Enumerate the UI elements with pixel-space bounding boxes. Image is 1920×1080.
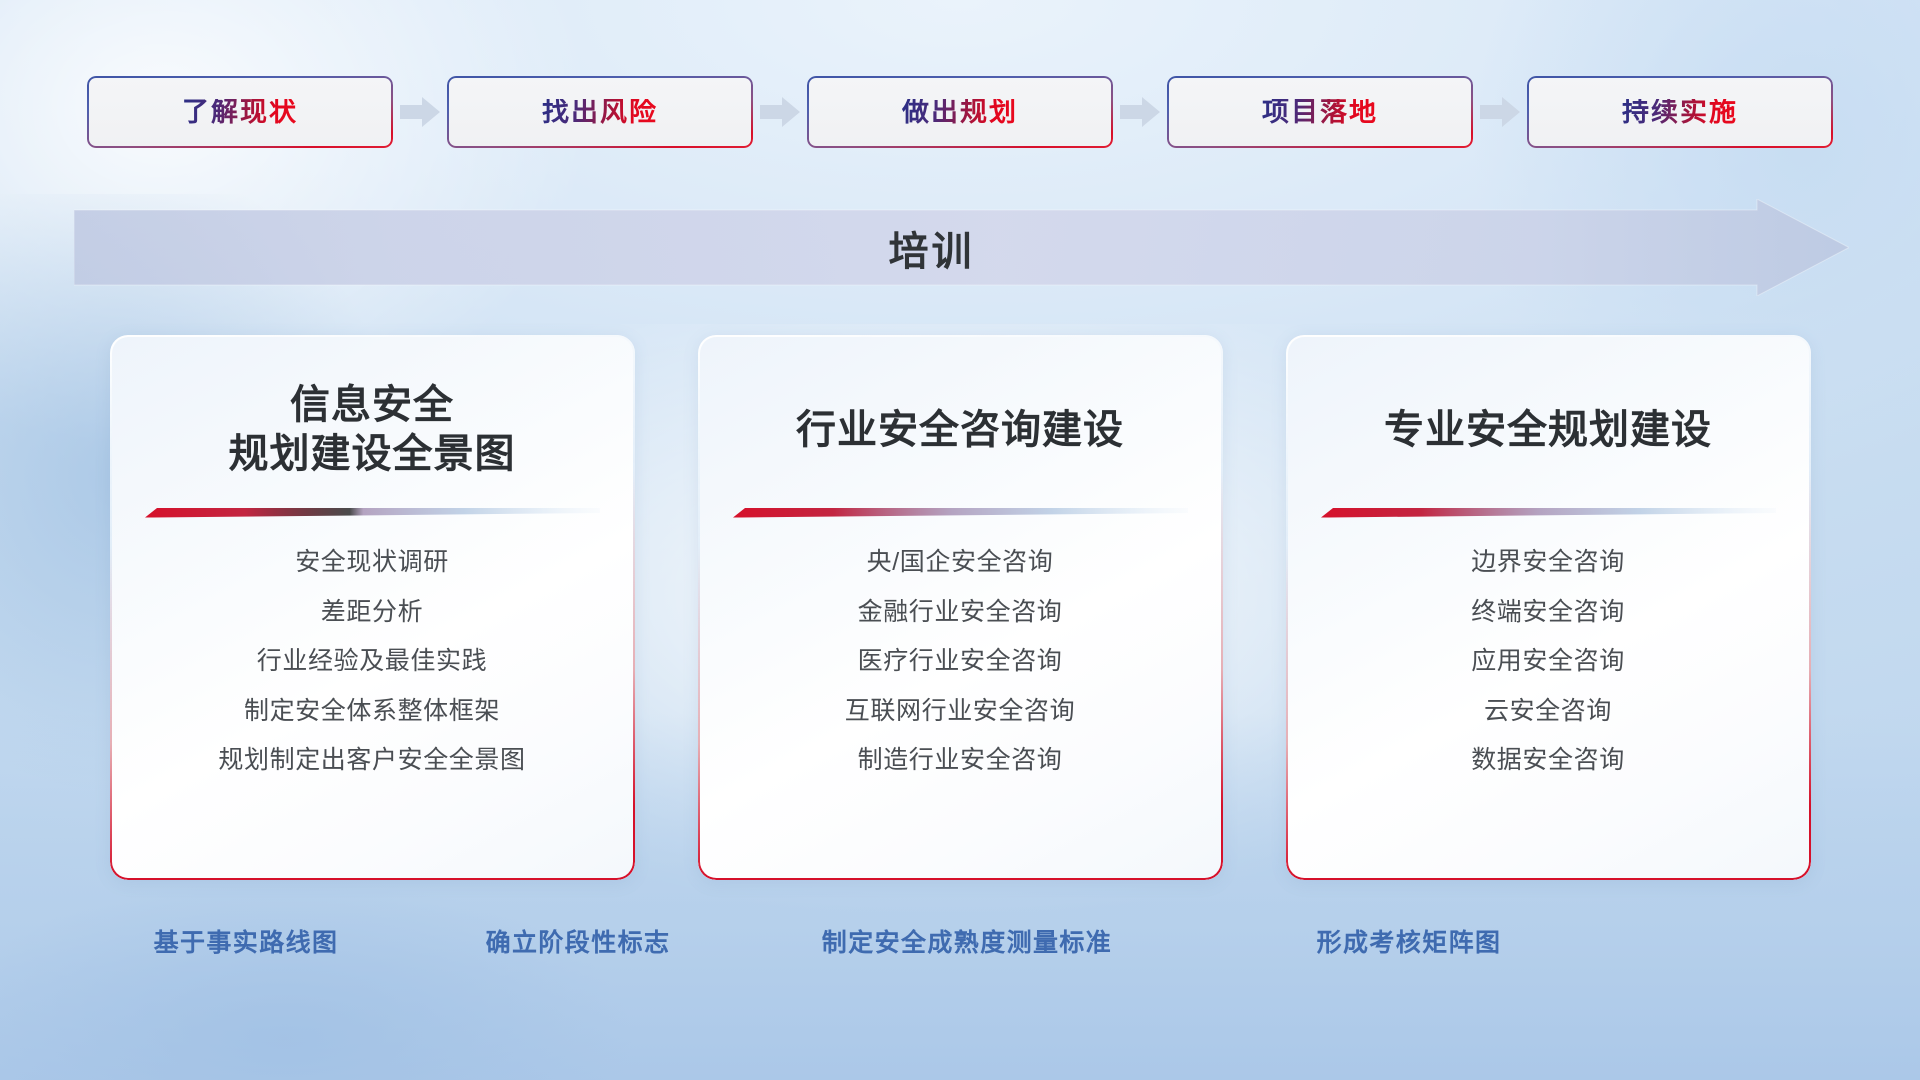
card-3-list: 边界安全咨询 终端安全咨询 应用安全咨询 云安全咨询 数据安全咨询: [1320, 542, 1777, 781]
step-label-3: 做出规划: [902, 99, 1018, 126]
banner-title: 培训: [74, 199, 1849, 296]
card-2-title-line-1: 行业安全咨询建设: [796, 406, 1124, 455]
list-item: 规划制定出客户安全全景图: [218, 740, 525, 781]
card-1-title: 信息安全 规划建设全景图: [229, 377, 516, 483]
card-1-list: 安全现状调研 差距分析 行业经验及最佳实践 制定安全体系整体框架 规划制定出客户…: [144, 542, 601, 781]
list-item: 边界安全咨询: [1471, 542, 1625, 583]
step-box-5[interactable]: 持续实施: [1527, 76, 1833, 148]
list-item: 安全现状调研: [295, 542, 449, 583]
card-2[interactable]: 行业安全咨询建设: [698, 335, 1223, 880]
step-label-5: 持续实施: [1622, 99, 1738, 126]
list-item: 数据安全咨询: [1471, 740, 1625, 781]
step-label-1: 了解现状: [182, 99, 298, 126]
list-item: 互联网行业安全咨询: [845, 691, 1075, 732]
list-item: 央/国企安全咨询: [867, 542, 1054, 583]
footer-label-3: 制定安全成熟度测量标准: [822, 925, 1112, 963]
list-item: 行业经验及最佳实践: [257, 641, 487, 682]
list-item: 医疗行业安全咨询: [858, 641, 1063, 682]
list-item: 制定安全体系整体框架: [244, 691, 500, 732]
footer-label-1: 基于事实路线图: [154, 925, 339, 963]
step-label-4: 项目落地: [1262, 99, 1378, 126]
step-arrow-4: [1473, 76, 1527, 148]
list-item: 差距分析: [321, 592, 423, 633]
process-step-flow: 了解现状 找出风险 做出规划 项目落地: [0, 76, 1920, 148]
card-3-divider: [1321, 507, 1776, 518]
card-2-title: 行业安全咨询建设: [796, 377, 1124, 483]
card-1-divider: [145, 507, 600, 518]
step-label-2: 找出风险: [542, 99, 658, 126]
step-box-2[interactable]: 找出风险: [447, 76, 753, 148]
card-1-title-line-2: 规划建设全景图: [229, 430, 516, 479]
list-item: 应用安全咨询: [1471, 641, 1625, 682]
footer-label-4: 形成考核矩阵图: [1317, 925, 1502, 963]
list-item: 云安全咨询: [1484, 691, 1612, 732]
list-item: 终端安全咨询: [1471, 592, 1625, 633]
footer-label-row: 基于事实路线图 确立阶段性标志 制定安全成熟度测量标准 形成考核矩阵图: [0, 925, 1920, 971]
card-2-list: 央/国企安全咨询 金融行业安全咨询 医疗行业安全咨询 互联网行业安全咨询 制造行…: [732, 542, 1189, 781]
step-arrow-1: [393, 76, 447, 148]
card-3[interactable]: 专业安全规划建设: [1286, 335, 1811, 880]
step-box-4[interactable]: 项目落地: [1167, 76, 1473, 148]
card-3-title-line-1: 专业安全规划建设: [1384, 406, 1712, 455]
step-arrow-3: [1113, 76, 1167, 148]
training-banner: 培训: [74, 199, 1849, 296]
list-item: 金融行业安全咨询: [858, 592, 1063, 633]
footer-label-2: 确立阶段性标志: [486, 925, 671, 963]
step-arrow-2: [753, 76, 807, 148]
card-row: 信息安全 规划建设全景图: [0, 335, 1920, 885]
list-item: 制造行业安全咨询: [858, 740, 1063, 781]
card-1[interactable]: 信息安全 规划建设全景图: [110, 335, 635, 880]
step-box-1[interactable]: 了解现状: [87, 76, 393, 148]
card-3-title: 专业安全规划建设: [1384, 377, 1712, 483]
step-box-3[interactable]: 做出规划: [807, 76, 1113, 148]
card-2-divider: [733, 507, 1188, 518]
card-1-title-line-1: 信息安全: [229, 381, 516, 430]
